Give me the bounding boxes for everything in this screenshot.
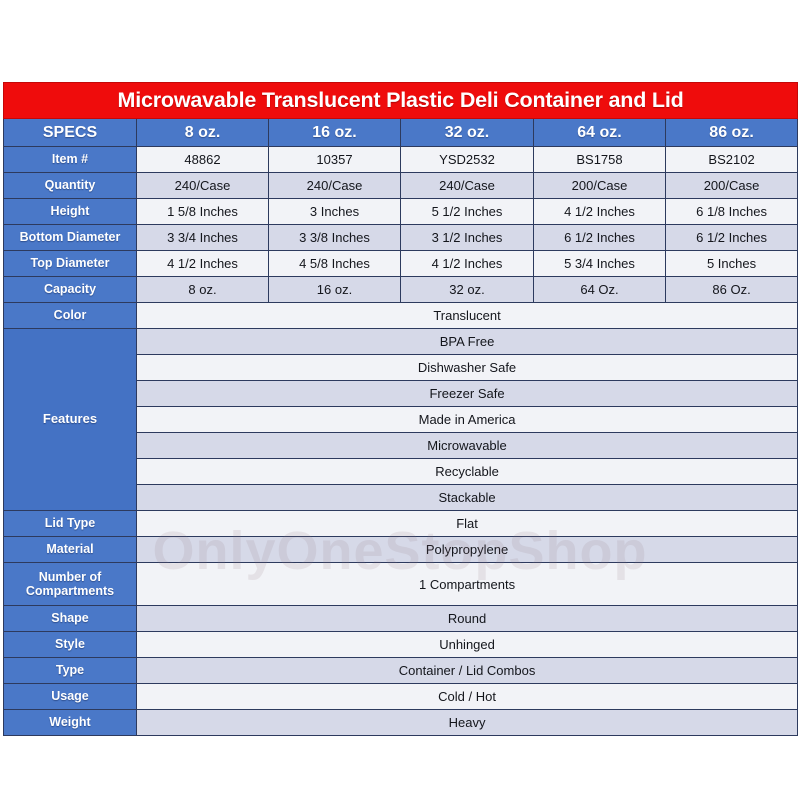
table-row: Top Diameter 4 1/2 Inches 4 5/8 Inches 4… bbox=[4, 251, 798, 277]
cell-capacity-8oz: 8 oz. bbox=[137, 277, 269, 303]
cell-feature-bpa-free: BPA Free bbox=[137, 329, 798, 355]
cell-item-number-86oz: BS2102 bbox=[666, 147, 798, 173]
row-label-features: Features bbox=[4, 329, 137, 511]
cell-top-diameter-8oz: 4 1/2 Inches bbox=[137, 251, 269, 277]
table-row: Height 1 5/8 Inches 3 Inches 5 1/2 Inche… bbox=[4, 199, 798, 225]
table-row: Number of Compartments 1 Compartments bbox=[4, 563, 798, 606]
cell-top-diameter-64oz: 5 3/4 Inches bbox=[534, 251, 666, 277]
row-label-color: Color bbox=[4, 303, 137, 329]
cell-height-32oz: 5 1/2 Inches bbox=[401, 199, 534, 225]
table-row: Bottom Diameter 3 3/4 Inches 3 3/8 Inche… bbox=[4, 225, 798, 251]
row-label-type: Type bbox=[4, 658, 137, 684]
row-label-style: Style bbox=[4, 632, 137, 658]
cell-item-number-64oz: BS1758 bbox=[534, 147, 666, 173]
cell-height-86oz: 6 1/8 Inches bbox=[666, 199, 798, 225]
table-row: Item # 48862 10357 YSD2532 BS1758 BS2102 bbox=[4, 147, 798, 173]
cell-feature-made-in-america: Made in America bbox=[137, 407, 798, 433]
row-label-material: Material bbox=[4, 537, 137, 563]
table-row: Usage Cold / Hot bbox=[4, 684, 798, 710]
cell-item-number-32oz: YSD2532 bbox=[401, 147, 534, 173]
cell-quantity-86oz: 200/Case bbox=[666, 173, 798, 199]
column-header-64oz: 64 oz. bbox=[534, 119, 666, 147]
cell-feature-freezer-safe: Freezer Safe bbox=[137, 381, 798, 407]
cell-item-number-8oz: 48862 bbox=[137, 147, 269, 173]
row-label-weight: Weight bbox=[4, 710, 137, 736]
table-row: Material Polypropylene bbox=[4, 537, 798, 563]
cell-capacity-64oz: 64 Oz. bbox=[534, 277, 666, 303]
cell-top-diameter-32oz: 4 1/2 Inches bbox=[401, 251, 534, 277]
row-label-quantity: Quantity bbox=[4, 173, 137, 199]
cell-usage-value: Cold / Hot bbox=[137, 684, 798, 710]
cell-quantity-16oz: 240/Case bbox=[269, 173, 401, 199]
cell-quantity-32oz: 240/Case bbox=[401, 173, 534, 199]
cell-bottom-diameter-86oz: 6 1/2 Inches bbox=[666, 225, 798, 251]
cell-quantity-64oz: 200/Case bbox=[534, 173, 666, 199]
column-header-row: SPECS 8 oz. 16 oz. 32 oz. 64 oz. 86 oz. bbox=[4, 119, 798, 147]
row-label-top-diameter: Top Diameter bbox=[4, 251, 137, 277]
cell-top-diameter-86oz: 5 Inches bbox=[666, 251, 798, 277]
table-row: Weight Heavy bbox=[4, 710, 798, 736]
table-row: Quantity 240/Case 240/Case 240/Case 200/… bbox=[4, 173, 798, 199]
column-header-86oz: 86 oz. bbox=[666, 119, 798, 147]
row-label-number-of-compartments: Number of Compartments bbox=[4, 563, 137, 606]
cell-height-16oz: 3 Inches bbox=[269, 199, 401, 225]
cell-capacity-32oz: 32 oz. bbox=[401, 277, 534, 303]
cell-color-value: Translucent bbox=[137, 303, 798, 329]
cell-item-number-16oz: 10357 bbox=[269, 147, 401, 173]
cell-height-8oz: 1 5/8 Inches bbox=[137, 199, 269, 225]
row-label-lid-type: Lid Type bbox=[4, 511, 137, 537]
page-title: Microwavable Translucent Plastic Deli Co… bbox=[4, 83, 798, 119]
row-label-capacity: Capacity bbox=[4, 277, 137, 303]
row-label-shape: Shape bbox=[4, 606, 137, 632]
specification-table-container: Microwavable Translucent Plastic Deli Co… bbox=[3, 82, 797, 736]
row-label-usage: Usage bbox=[4, 684, 137, 710]
cell-style-value: Unhinged bbox=[137, 632, 798, 658]
cell-number-of-compartments-value: 1 Compartments bbox=[137, 563, 798, 606]
row-label-item-number: Item # bbox=[4, 147, 137, 173]
table-row: Lid Type Flat bbox=[4, 511, 798, 537]
table-row: Type Container / Lid Combos bbox=[4, 658, 798, 684]
cell-weight-value: Heavy bbox=[137, 710, 798, 736]
table-row: Style Unhinged bbox=[4, 632, 798, 658]
cell-capacity-16oz: 16 oz. bbox=[269, 277, 401, 303]
table-row: Color Translucent bbox=[4, 303, 798, 329]
cell-shape-value: Round bbox=[137, 606, 798, 632]
cell-capacity-86oz: 86 Oz. bbox=[666, 277, 798, 303]
spec-sheet-page: OnlyOneStopShop Microwavable Translucent… bbox=[0, 0, 800, 800]
cell-material-value: Polypropylene bbox=[137, 537, 798, 563]
row-label-bottom-diameter: Bottom Diameter bbox=[4, 225, 137, 251]
table-row: Shape Round bbox=[4, 606, 798, 632]
cell-bottom-diameter-64oz: 6 1/2 Inches bbox=[534, 225, 666, 251]
cell-type-value: Container / Lid Combos bbox=[137, 658, 798, 684]
column-header-8oz: 8 oz. bbox=[137, 119, 269, 147]
table-body: Microwavable Translucent Plastic Deli Co… bbox=[4, 83, 798, 736]
cell-feature-stackable: Stackable bbox=[137, 485, 798, 511]
cell-height-64oz: 4 1/2 Inches bbox=[534, 199, 666, 225]
specification-table: Microwavable Translucent Plastic Deli Co… bbox=[3, 82, 798, 736]
row-label-height: Height bbox=[4, 199, 137, 225]
cell-bottom-diameter-8oz: 3 3/4 Inches bbox=[137, 225, 269, 251]
cell-feature-microwavable: Microwavable bbox=[137, 433, 798, 459]
cell-top-diameter-16oz: 4 5/8 Inches bbox=[269, 251, 401, 277]
cell-feature-dishwasher-safe: Dishwasher Safe bbox=[137, 355, 798, 381]
title-row: Microwavable Translucent Plastic Deli Co… bbox=[4, 83, 798, 119]
column-header-16oz: 16 oz. bbox=[269, 119, 401, 147]
column-header-32oz: 32 oz. bbox=[401, 119, 534, 147]
table-row: Capacity 8 oz. 16 oz. 32 oz. 64 Oz. 86 O… bbox=[4, 277, 798, 303]
table-row: Features BPA Free bbox=[4, 329, 798, 355]
cell-lid-type-value: Flat bbox=[137, 511, 798, 537]
cell-feature-recyclable: Recyclable bbox=[137, 459, 798, 485]
cell-bottom-diameter-16oz: 3 3/8 Inches bbox=[269, 225, 401, 251]
cell-bottom-diameter-32oz: 3 1/2 Inches bbox=[401, 225, 534, 251]
cell-quantity-8oz: 240/Case bbox=[137, 173, 269, 199]
column-header-specs: SPECS bbox=[4, 119, 137, 147]
